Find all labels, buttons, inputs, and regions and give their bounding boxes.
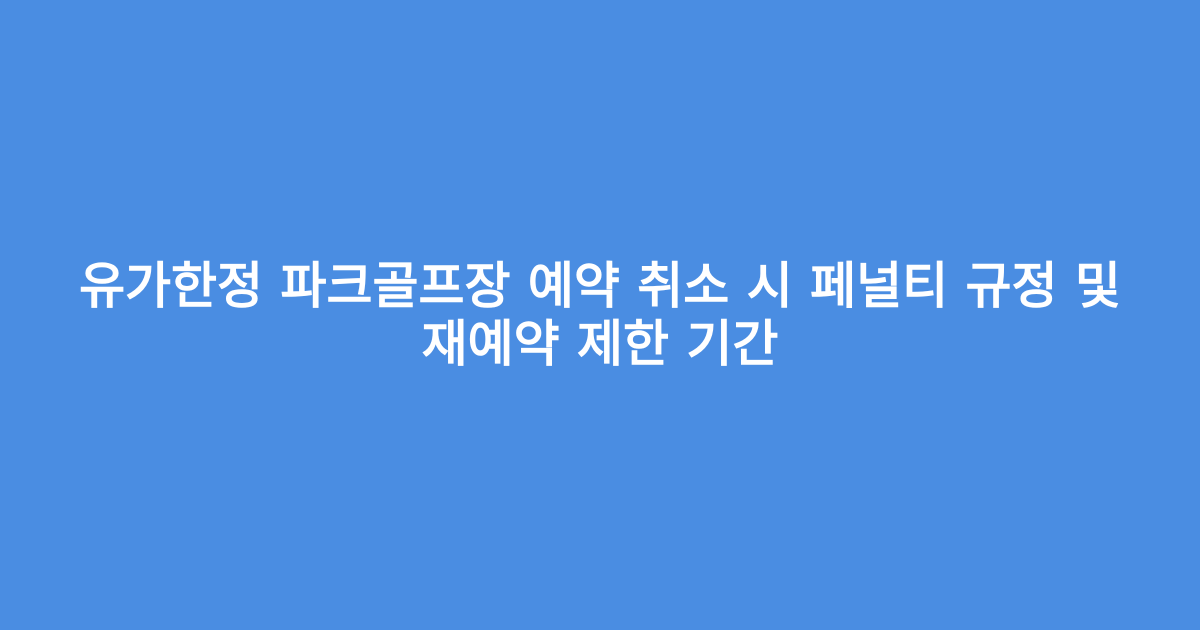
- og-card: 유가한정 파크골프장 예약 취소 시 페널티 규정 및 재예약 제한 기간: [0, 0, 1200, 630]
- title-block: 유가한정 파크골프장 예약 취소 시 페널티 규정 및 재예약 제한 기간: [50, 257, 1150, 373]
- page-title: 유가한정 파크골프장 예약 취소 시 페널티 규정 및 재예약 제한 기간: [70, 257, 1130, 373]
